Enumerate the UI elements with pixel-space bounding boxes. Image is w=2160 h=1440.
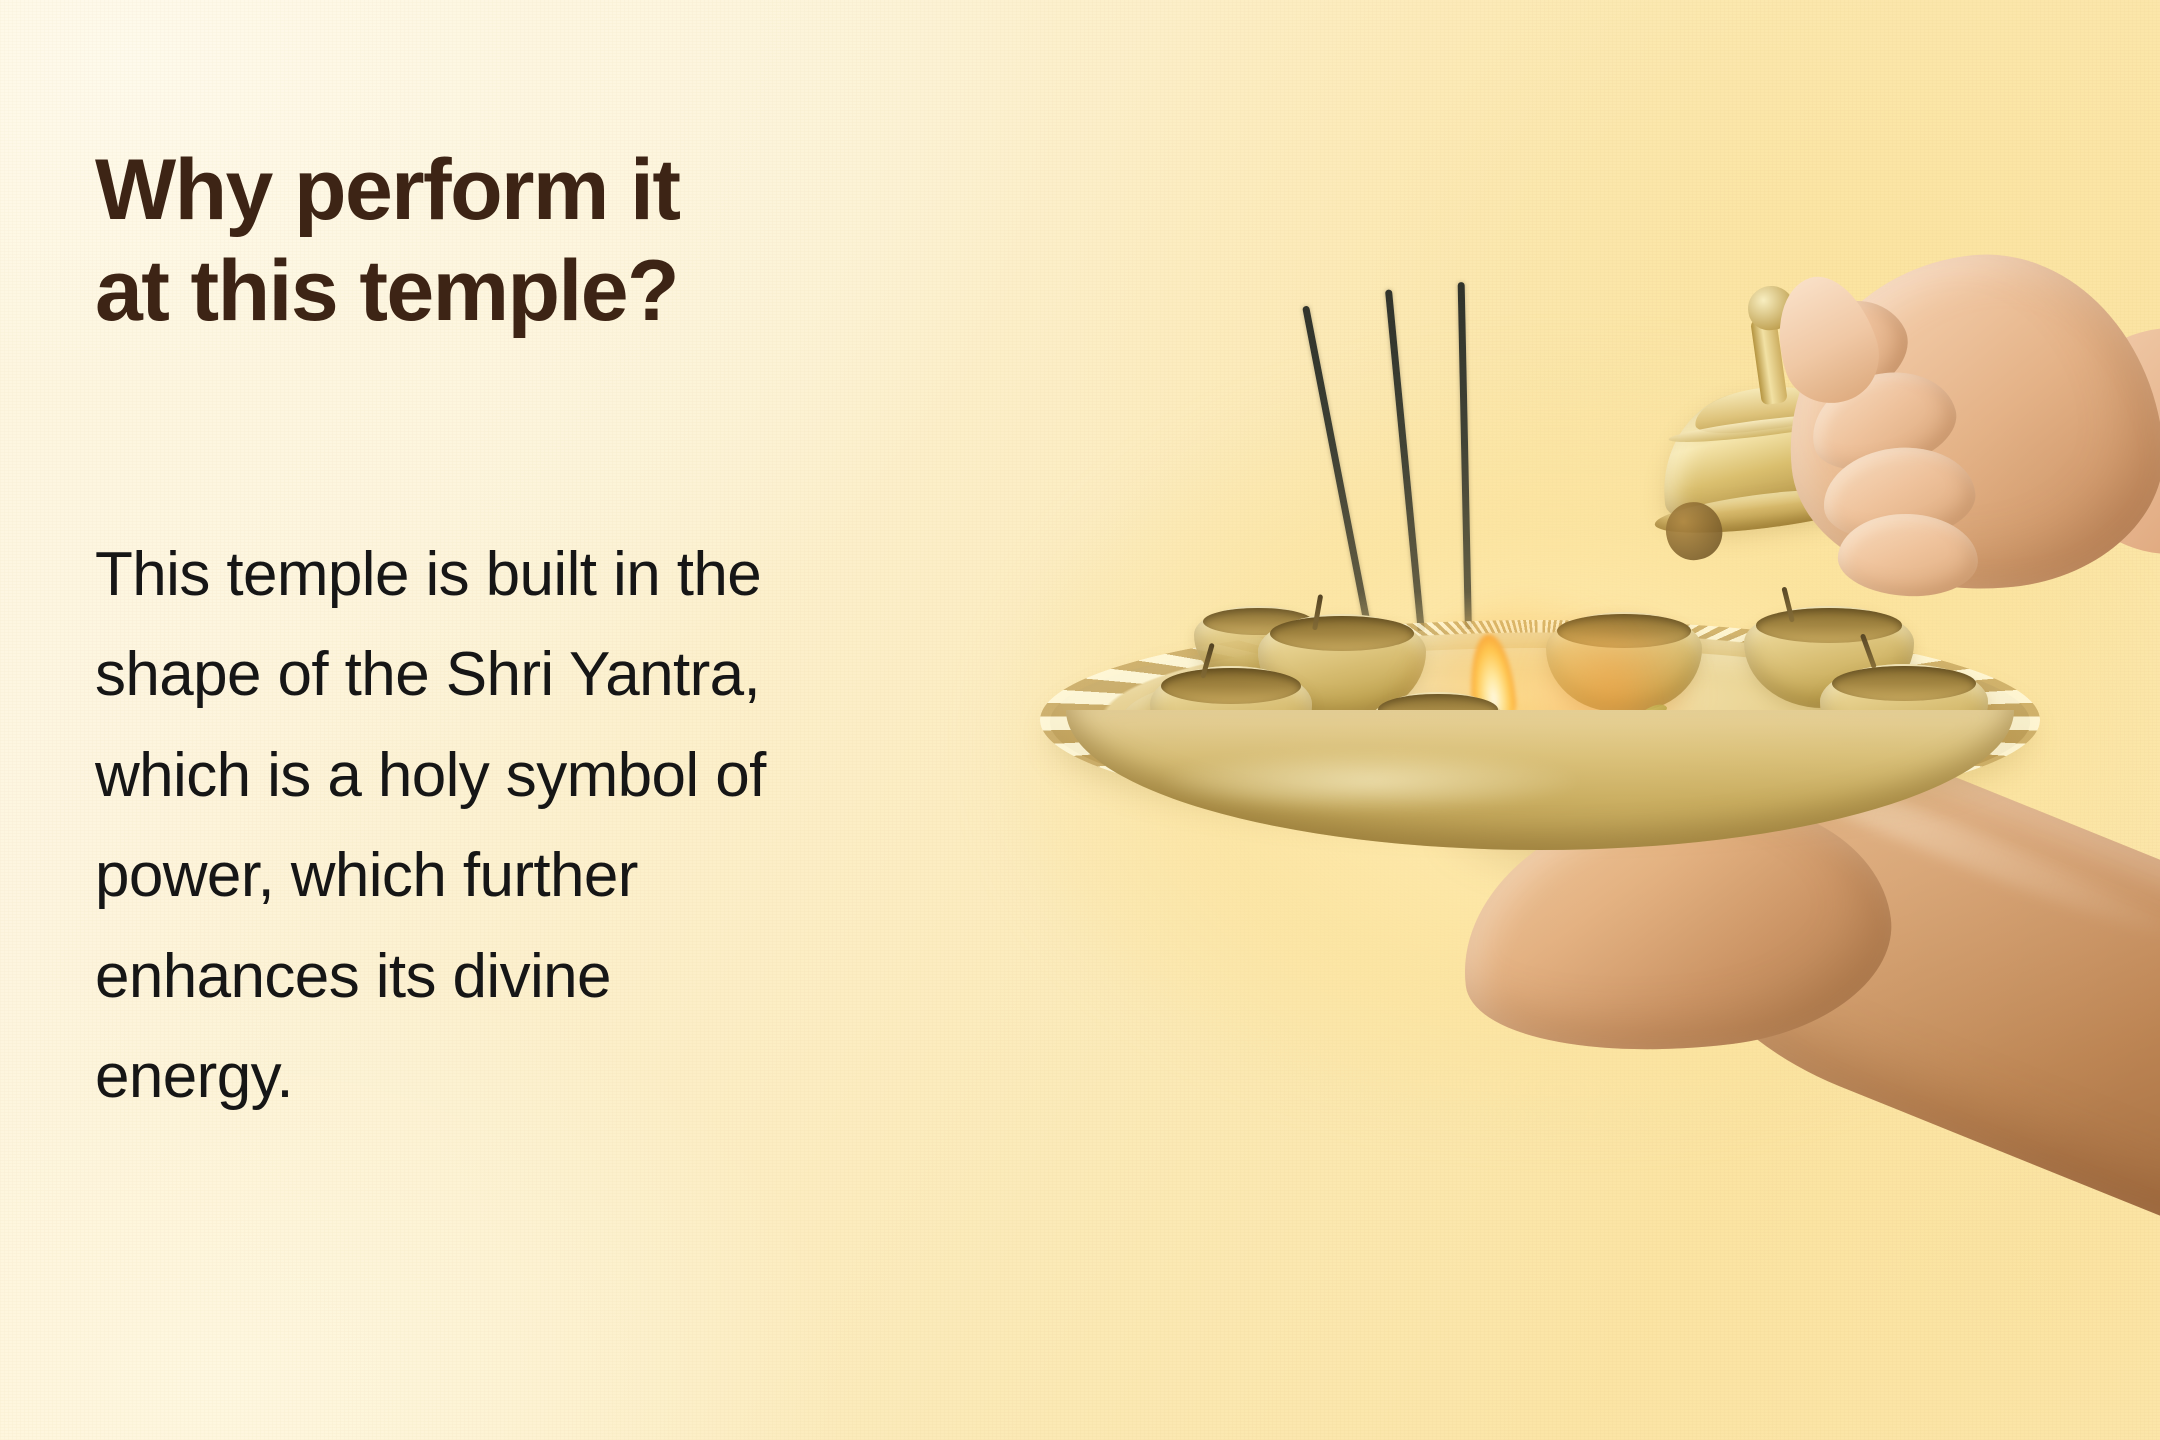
text-column: Why perform it at this temple? This temp… <box>95 0 1015 1440</box>
body-paragraph: This temple is built in the shape of the… <box>95 525 1000 1128</box>
thali-highlight <box>1160 750 1580 812</box>
slide-canvas: Why perform it at this temple? This temp… <box>0 0 2160 1440</box>
bell-and-hand <box>1660 270 2160 630</box>
puja-photo <box>1040 0 2160 1440</box>
page-title: Why perform it at this temple? <box>95 140 995 343</box>
aarti-thali <box>1050 600 2050 880</box>
